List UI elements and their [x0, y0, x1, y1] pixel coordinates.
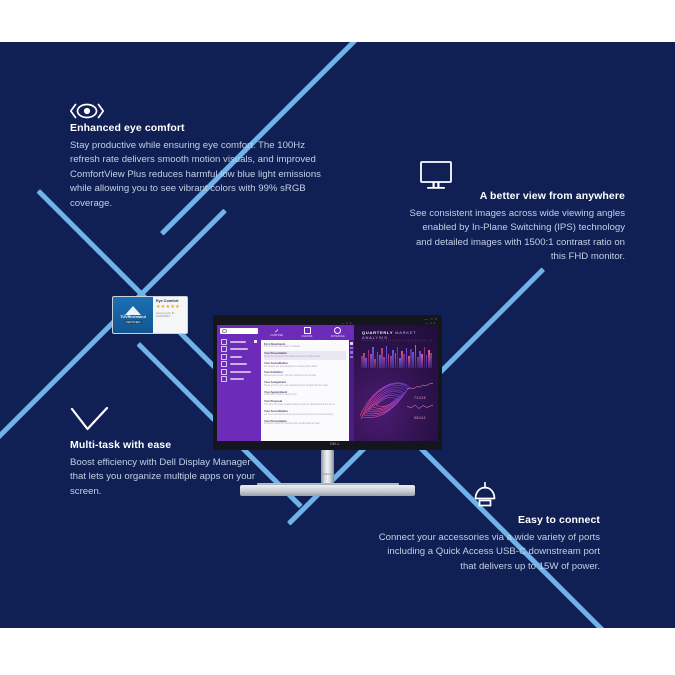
message-preview: The docs are those clearly analysis is a… [264, 404, 346, 407]
plug-icon [470, 482, 500, 510]
rail-icon-3[interactable] [350, 351, 353, 354]
bar [374, 359, 376, 369]
feature-body: Stay productive while ensuring eye comfo… [70, 139, 330, 212]
bar-chart [361, 343, 432, 368]
search-icon [222, 329, 227, 334]
list-item[interactable]: Your Accreditation All receipts are now … [264, 360, 346, 370]
dashboard-title: QUARTERLY MARKET ANALYSIS [362, 330, 438, 340]
toolbar-label: AGENDA [302, 336, 313, 338]
sent-icon [221, 354, 227, 360]
message-preview: This is how a mail reads in Outlook [264, 346, 346, 349]
sidebar-item-important[interactable] [220, 368, 258, 376]
stat-value: 58442 [407, 416, 433, 420]
bar [392, 350, 394, 368]
monitor-bezel: — □ × — □ × [213, 315, 442, 450]
feature-title: A better view from anywhere [405, 190, 625, 203]
list-item[interactable]: Your Proposal The docs are those clearly… [264, 399, 346, 409]
feature-body: See consistent images across wide viewin… [405, 207, 625, 265]
search-input[interactable] [220, 328, 258, 334]
toolbar-label: SCHEDULE [331, 336, 345, 338]
tuv-brand: TÜVRheinland [120, 316, 146, 320]
monitor-screen: — □ × [217, 321, 438, 441]
message-preview: Let me know what the time you need to be… [264, 414, 346, 417]
mail-sidebar [217, 325, 261, 441]
bezel-dell-logo: DELL [326, 441, 344, 446]
archive-icon [221, 361, 227, 367]
mail-toolbar: COMPOSE AGENDA SCHEDULE [261, 325, 354, 340]
rail-icon-4[interactable] [350, 356, 353, 359]
feature-title: Easy to connect [370, 514, 600, 527]
dashboard-window: — □ × QUARTERLY MARKET ANALYSIS ––––– ||… [354, 321, 438, 441]
toolbar-label: COMPOSE [270, 335, 283, 337]
important-icon [221, 369, 227, 375]
inbox-icon [221, 339, 227, 345]
list-item[interactable]: Your Presentation Kindly let me know if … [264, 351, 346, 361]
y-tick: – [357, 361, 358, 362]
trash-icon [221, 376, 227, 382]
eye-icon [70, 100, 104, 122]
sparkline-up-icon [407, 383, 433, 390]
list-item[interactable]: First Attachment This is how a mail read… [264, 341, 346, 351]
stand-dell-logo: DELL [321, 472, 334, 476]
sidebar-item-label [230, 356, 242, 358]
sidebar-item-inbox[interactable] [220, 338, 258, 346]
badge-title: Eye Comfort [156, 300, 185, 304]
bar [424, 347, 426, 368]
drafts-icon [221, 346, 227, 352]
message-preview: Kindly let me know if the draft works fo… [264, 356, 346, 359]
chart-y-axis: ––––– [357, 343, 358, 368]
y-tick: – [357, 349, 358, 350]
badge-footnote: www.tuv.com ID 1111234567 [156, 312, 185, 318]
message-preview: Confirmed. Shall be kept for you [264, 394, 346, 397]
list-item[interactable]: Your Assignment Thank you for your reply… [264, 380, 346, 390]
bar [412, 352, 414, 368]
bezel-logo-text: DELL [330, 442, 340, 446]
sidebar-item-label [230, 371, 251, 373]
message-preview: Thank you for your reply. Details will s… [264, 385, 346, 388]
tuv-eye-comfort-badge: TÜVRheinland CERTIFIED Eye Comfort ★★★★★… [112, 296, 188, 334]
sidebar-item-label [230, 378, 244, 380]
message-title: Your Accreditation [264, 362, 346, 365]
list-item[interactable]: Your Appointment Confirmed. Shall be kep… [264, 389, 346, 399]
mail-app-window: — □ × [217, 321, 354, 441]
feature-better-view: A better view from anywhere See consiste… [405, 160, 625, 265]
badge-stars: ★★★★★ [156, 305, 185, 310]
badge-info: Eye Comfort ★★★★★ www.tuv.com ID 1111234… [153, 297, 187, 333]
sidebar-item-trash[interactable] [220, 376, 258, 384]
bar [386, 346, 388, 369]
y-tick: – [357, 355, 358, 356]
feature-body: Connect your accessories via a wide vari… [370, 531, 600, 575]
tuv-logo: TÜVRheinland CERTIFIED [113, 297, 153, 333]
bar [421, 354, 423, 368]
list-item[interactable]: Your Invitation Please have a look. The … [264, 370, 346, 380]
y-tick: – [357, 343, 358, 344]
sidebar-item-label [230, 348, 248, 350]
message-title: Your Accreditation [264, 410, 346, 413]
monitor-icon [417, 160, 455, 190]
mail-list-pane: COMPOSE AGENDA SCHEDULE [261, 325, 354, 441]
sidebar-item-label [230, 363, 247, 365]
stat-block-2: 58442 [407, 397, 433, 420]
message-preview: All receipts are now attached in a share… [264, 366, 346, 369]
message-title: Your Presentation [264, 352, 346, 355]
sparkline-wave-icon [407, 403, 433, 410]
sidebar-item-drafts[interactable] [220, 346, 258, 354]
chart-x-axis: |||||||||||||||||||||||||||||||| [361, 340, 432, 342]
message-title: Your Assignment [264, 381, 346, 384]
monitor-stand-base [240, 485, 415, 496]
unread-badge [254, 340, 257, 343]
message-list[interactable]: First Attachment This is how a mail read… [261, 340, 349, 441]
rail-icon-2[interactable] [350, 347, 353, 350]
y-tick: – [357, 367, 358, 368]
dell-monitor: — □ × — □ × [205, 315, 450, 510]
list-item[interactable]: Your Presentation Checked in and the num… [264, 418, 346, 428]
bar [395, 353, 397, 368]
dashboard-titlebar: — □ × [354, 321, 438, 325]
message-preview: Please have a look. The info checks out … [264, 375, 346, 378]
calendar-icon [304, 327, 311, 334]
navy-panel: Enhanced eye comfort Stay productive whi… [0, 42, 675, 628]
rail-icon-1[interactable] [350, 342, 353, 345]
message-title: Your Proposal [264, 400, 346, 403]
list-item[interactable]: Your Accreditation Let me know what the … [264, 408, 346, 418]
sidebar-item-sent[interactable] [220, 353, 258, 361]
bar [403, 354, 405, 368]
sidebar-item-label [230, 341, 246, 343]
bar [365, 358, 367, 368]
toolbar-agenda[interactable]: AGENDA [302, 327, 313, 338]
sidebar-item-archive[interactable] [220, 361, 258, 369]
tuv-triangle-icon [125, 306, 141, 315]
feature-eye-comfort: Enhanced eye comfort Stay productive whi… [70, 100, 330, 211]
feature-title: Enhanced eye comfort [70, 122, 330, 135]
message-preview: Checked in and the numbers line up with … [264, 423, 346, 426]
compose-icon [274, 328, 279, 333]
toolbar-schedule[interactable]: SCHEDULE [331, 327, 345, 338]
tuv-certified-label: CERTIFIED [124, 320, 143, 324]
checkmark-icon [70, 407, 110, 433]
promo-graphic: Enhanced eye comfort Stay productive whi… [0, 0, 675, 675]
clock-icon [334, 327, 341, 334]
toolbar-compose[interactable]: COMPOSE [270, 328, 283, 337]
bar [383, 357, 385, 368]
mail-app-body: COMPOSE AGENDA SCHEDULE [217, 325, 354, 441]
dashboard-window-controls[interactable]: — □ × [425, 322, 436, 325]
bar [430, 353, 432, 368]
